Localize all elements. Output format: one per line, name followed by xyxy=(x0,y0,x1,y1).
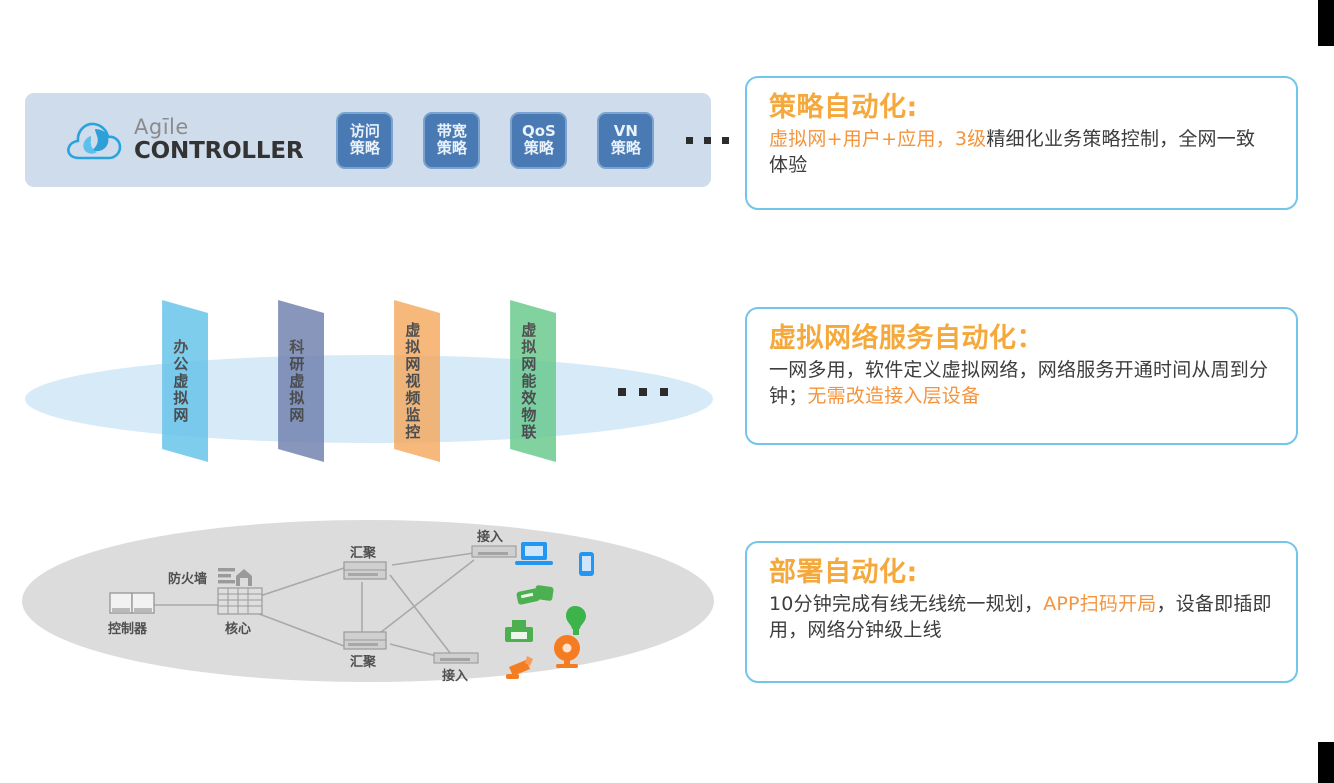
policy-chip-vn-line2: 策略 xyxy=(611,140,641,157)
access-switch-icon xyxy=(434,653,478,663)
feature-card-vn-service-automation: 虚拟网络服务自动化： 一网多用，软件定义虚拟网络，网络服务开通时间从周到分钟；无… xyxy=(745,307,1298,445)
printer-icon xyxy=(505,620,533,642)
agile-controller-logo: Agīle CONTROLLER xyxy=(65,116,303,164)
edge-bar-top xyxy=(1318,0,1334,46)
feature-card-vn-service-automation-body: 一网多用，软件定义虚拟网络，网络服务开通时间从周到分钟；无需改造接入层设备 xyxy=(769,358,1274,409)
light-bulb-icon xyxy=(566,606,586,635)
topology-label-core: 核心 xyxy=(225,618,251,637)
feature-body-text: 10分钟完成有线无线统一规划， xyxy=(769,593,1043,615)
ellipsis-dot xyxy=(618,388,626,396)
switch-icon xyxy=(344,562,386,579)
feature-card-policy-automation-title: 策略自动化: xyxy=(769,92,1274,123)
logo-controller-text: CONTROLLER xyxy=(134,140,303,163)
feature-card-vn-service-automation-title: 虚拟网络服务自动化： xyxy=(769,323,1274,354)
vn-more-ellipsis xyxy=(618,388,668,396)
topology-label-controller: 控制器 xyxy=(108,618,147,637)
topology-label-access-bottom: 接入 xyxy=(442,665,468,684)
network-topology-diagram: 控制器 防火墙 核心 汇聚 汇聚 接入 接入 xyxy=(22,520,714,685)
feature-card-deployment-automation-body: 10分钟完成有线无线统一规划，APP扫码开局，设备即插即用，网络分钟级上线 xyxy=(769,592,1274,643)
policy-chip-access[interactable]: 访问 策略 xyxy=(336,112,393,169)
vn-plane-office-label: 办公虚拟网 xyxy=(172,339,189,424)
vn-plane-video-col2: 虚拟网 xyxy=(404,322,421,373)
feature-card-policy-automation-body: 虚拟网+用户+应用，3级精细化业务策略控制，全网一致体验 xyxy=(769,127,1274,178)
feature-card-policy-automation: 策略自动化: 虚拟网+用户+应用，3级精细化业务策略控制，全网一致体验 xyxy=(745,76,1298,210)
vn-plane-video-surveillance-label: 视频监控 虚拟网 xyxy=(404,322,421,441)
policy-chip-qos[interactable]: QoS 策略 xyxy=(510,112,567,169)
policy-chip-access-line1: 访问 xyxy=(350,123,380,140)
vn-plane-video-col1: 视频监控 xyxy=(404,373,421,441)
server-pair-icon xyxy=(110,593,154,613)
feature-body-highlight: 虚拟网+用户+应用，3级 xyxy=(769,128,986,150)
cloud-swirl-icon xyxy=(65,116,123,164)
feature-body-highlight: 无需改造接入层设备 xyxy=(807,385,980,407)
ellipsis-dot xyxy=(639,388,647,396)
edge-bar-bottom xyxy=(1318,742,1334,783)
policy-chip-bandwidth-line1: 带宽 xyxy=(437,123,467,140)
policy-chip-access-line2: 策略 xyxy=(350,140,380,157)
policy-chip-group: 访问 策略 带宽 策略 QoS 策略 VN 策略 xyxy=(336,112,729,169)
ellipsis-dot xyxy=(660,388,668,396)
ellipsis-dot xyxy=(722,137,729,144)
ellipsis-dot xyxy=(704,137,711,144)
air-conditioner-icon xyxy=(516,585,554,605)
policy-chip-more-ellipsis xyxy=(686,137,729,144)
ellipsis-dot xyxy=(686,137,693,144)
core-switch-icon xyxy=(218,588,262,614)
topology-label-aggregation-top: 汇聚 xyxy=(350,542,376,561)
feature-card-deployment-automation: 部署自动化: 10分钟完成有线无线统一规划，APP扫码开局，设备即插即用，网络分… xyxy=(745,541,1298,683)
logo-agile-text: Agīle xyxy=(134,117,303,138)
topology-label-access-top: 接入 xyxy=(477,526,503,545)
topology-label-aggregation-bottom: 汇聚 xyxy=(350,651,376,670)
tablet-icon xyxy=(579,552,594,576)
policy-chip-qos-line1: QoS xyxy=(522,123,556,140)
underlay-network-ellipse xyxy=(25,355,713,443)
feature-card-deployment-automation-title: 部署自动化: xyxy=(769,557,1274,588)
policy-chip-bandwidth-line2: 策略 xyxy=(437,140,467,157)
vn-plane-energy-col2: 虚拟网 xyxy=(520,322,537,373)
agile-controller-banner: Agīle CONTROLLER 访问 策略 带宽 策略 QoS 策略 VN 策… xyxy=(25,93,711,187)
firewall-icon xyxy=(218,568,252,586)
vn-plane-energy-iot-label: 能效物联 虚拟网 xyxy=(520,322,537,441)
cctv-camera-icon xyxy=(506,656,533,679)
laptop-icon xyxy=(515,542,553,565)
vn-plane-energy-col1: 能效物联 xyxy=(520,373,537,441)
virtual-network-diagram: 办公虚拟网 科研虚拟网 视频监控 虚拟网 能效物联 虚拟网 xyxy=(22,300,714,496)
topology-label-firewall: 防火墙 xyxy=(168,568,207,587)
policy-chip-bandwidth[interactable]: 带宽 策略 xyxy=(423,112,480,169)
access-switch-icon xyxy=(472,546,516,557)
policy-chip-qos-line2: 策略 xyxy=(524,140,554,157)
policy-chip-vn[interactable]: VN 策略 xyxy=(597,112,654,169)
vn-plane-research-label: 科研虚拟网 xyxy=(288,339,305,424)
feature-body-highlight: APP扫码开局 xyxy=(1043,593,1156,615)
slide-canvas: Agīle CONTROLLER 访问 策略 带宽 策略 QoS 策略 VN 策… xyxy=(0,0,1334,783)
policy-chip-vn-line1: VN xyxy=(614,123,638,140)
switch-icon xyxy=(344,632,386,649)
dome-camera-icon xyxy=(554,635,580,668)
agile-controller-wordmark: Agīle CONTROLLER xyxy=(134,117,303,163)
